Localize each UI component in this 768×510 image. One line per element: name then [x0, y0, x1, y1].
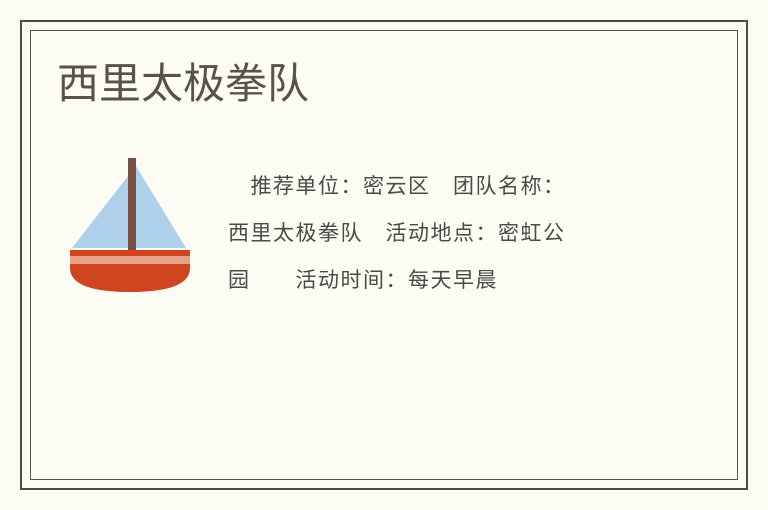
info-card: 西里太极拳队 推荐单位：密云区 团队名称：西里太极拳队 活动地点：密虹公园 活动…	[0, 0, 768, 510]
page-title: 西里太极拳队	[57, 58, 309, 110]
sailboat-icon	[64, 152, 196, 292]
team-details-text: 推荐单位：密云区 团队名称：西里太极拳队 活动地点：密虹公园 活动时间：每天早晨	[228, 163, 584, 304]
